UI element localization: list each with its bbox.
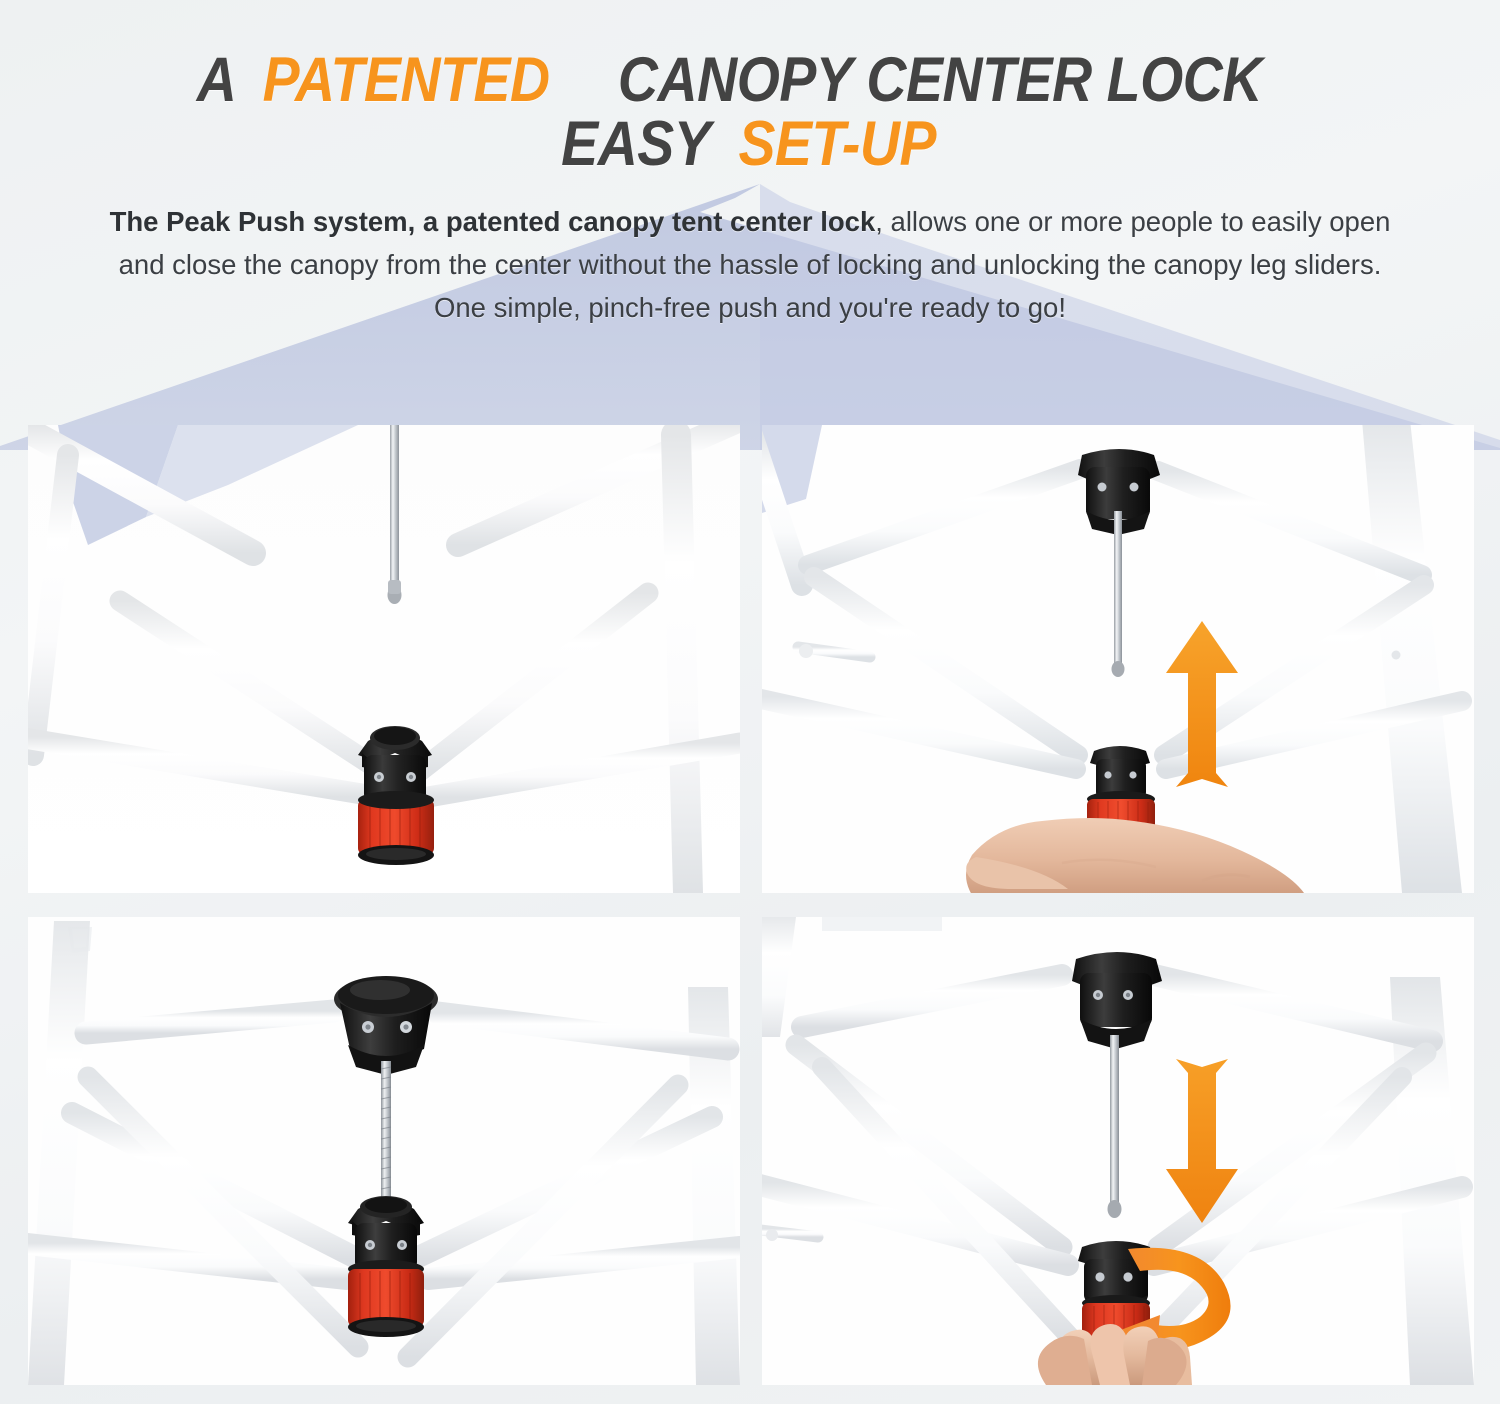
body-copy-closing: One simple, pinch-free push and you're r… (434, 292, 1066, 323)
panel-br-illustration (762, 917, 1474, 1385)
headline-word-a: A (197, 48, 237, 112)
headline-word-patented: PATENTED (263, 48, 550, 112)
panel-push-slider-up (762, 425, 1474, 893)
panel-bl-illustration (28, 917, 740, 1385)
photo-grid (28, 425, 1474, 1385)
red-center-slider-bl (348, 1260, 424, 1337)
panel-tr-illustration (762, 425, 1474, 893)
page-body-copy: The Peak Push system, a patented canopy … (95, 200, 1405, 329)
panel-center-lock-extended-rod (28, 425, 740, 893)
headline-line-2: EASY SET-UP (0, 112, 1500, 176)
body-copy-lead: The Peak Push system, a patented canopy … (110, 206, 876, 237)
page-headline: A PATENTED CANOPY CENTER LOCK EASY SET-U… (0, 48, 1500, 177)
headline-line-1: A PATENTED CANOPY CENTER LOCK (0, 48, 1500, 112)
panel-twist-and-lower-slider (762, 917, 1474, 1385)
panel-tl-illustration (28, 425, 740, 893)
headline-word-easy: EASY (561, 112, 710, 176)
threaded-rod-bl (381, 1061, 391, 1209)
marketing-infographic: A PATENTED CANOPY CENTER LOCK EASY SET-U… (0, 0, 1500, 1404)
red-center-slider-tl (358, 791, 434, 865)
headline-word-canopy-center-lock: CANOPY CENTER LOCK (618, 48, 1262, 112)
headline-word-set-up: SET-UP (738, 112, 936, 176)
panel-center-lock-engaged (28, 917, 740, 1385)
